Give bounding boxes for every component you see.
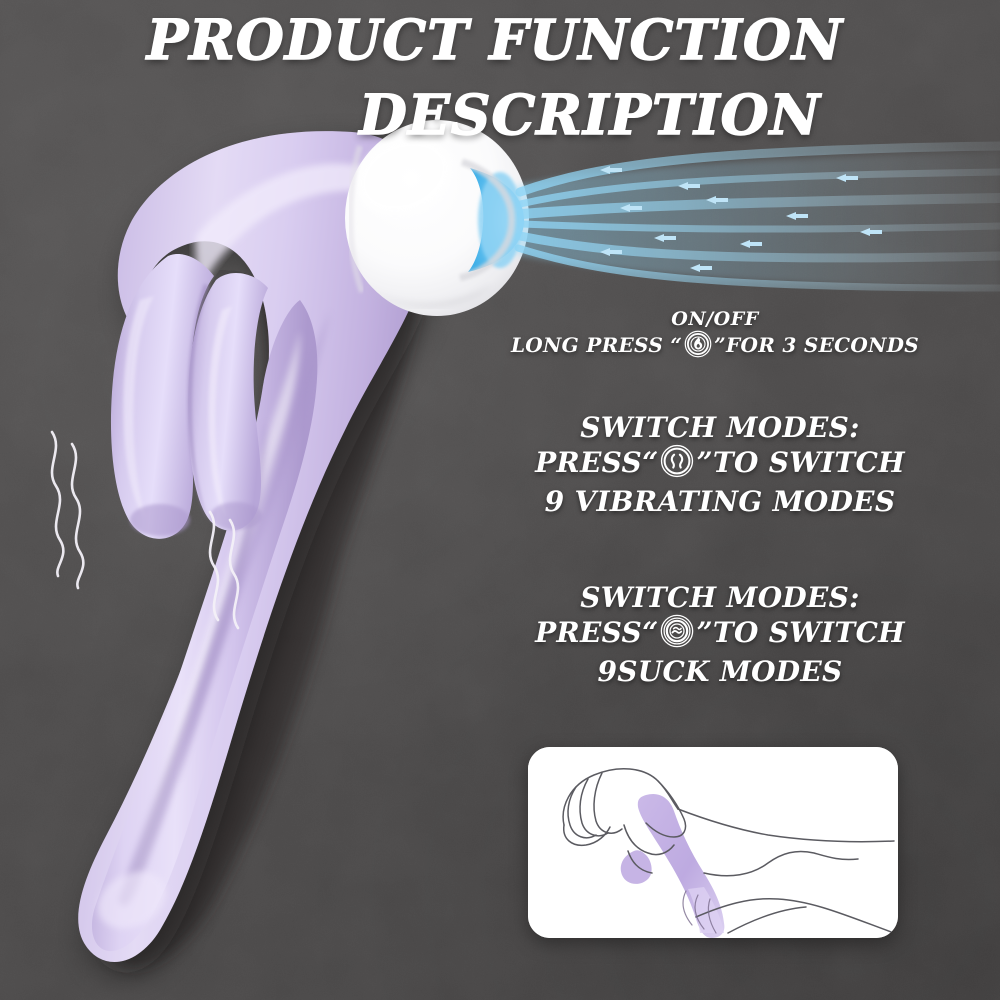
feature-suction-instruction: PRESS“ ”TO SWITCH [478,614,962,655]
feature-power-text-after: ”FOR 3 SECONDS [714,333,919,357]
usage-illustration-art [528,747,898,938]
feature-vibration-text-before: PRESS“ [535,446,658,479]
feature-vibration-modes: 9 VIBRATING MODES [480,486,960,518]
feature-suction-text-before: PRESS“ [535,616,658,649]
feature-vibration-heading: SWITCH MODES: [480,412,960,444]
vibration-wave-icon [660,444,694,485]
feature-suction-modes: 9SUCK MODES [478,656,962,688]
infographic-canvas: PRODUCT FUNCTION DESCRIPTION ON/OFF LONG… [0,0,1000,1000]
feature-vibration-text-after: ”TO SWITCH [696,446,904,479]
feature-block-suction: SWITCH MODES: PRESS“ ”TO SWITCH 9SUCK MO… [478,582,962,688]
suction-rings-icon [660,614,694,655]
feature-power-text-before: LONG PRESS “ [511,333,682,357]
usage-illustration [528,747,898,938]
power-flame-icon [684,330,712,363]
feature-power-instruction: LONG PRESS “ ”FOR 3 SECONDS [480,330,950,363]
feature-power-heading: ON/OFF [480,308,950,330]
feature-block-vibration: SWITCH MODES: PRESS“ ”TO SWITCH 9 VIBRAT… [480,412,960,518]
airflow-streams [516,146,1000,290]
feature-suction-text-after: ”TO SWITCH [696,616,904,649]
feature-suction-heading: SWITCH MODES: [478,582,962,614]
suction-head [345,120,529,316]
feature-vibration-instruction: PRESS“ ”TO SWITCH [480,444,960,485]
feature-block-power: ON/OFF LONG PRESS “ ”FOR 3 SECONDS [480,308,950,363]
